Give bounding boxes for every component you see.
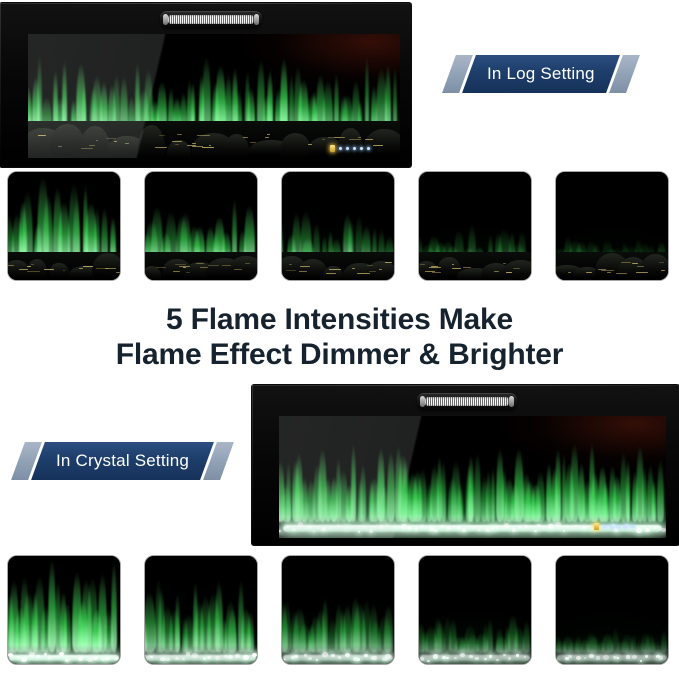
ember [463,267,471,268]
intensity-thumbnail [419,172,531,280]
glass-reflection [279,416,666,538]
crystal [645,655,648,658]
ember [357,273,369,274]
banner-label: In Crystal Setting [56,451,189,471]
thumbnail-log-bed [282,252,394,280]
log [49,263,69,277]
crystal-strip [557,655,667,661]
intensity-thumbnail [282,172,394,280]
intensity-thumbnail [145,556,257,664]
ember [637,266,644,267]
crystal [626,655,630,659]
vent-grille [168,15,254,23]
crystal [294,655,298,658]
crystal [603,655,609,660]
crystal [78,657,83,661]
ember [607,272,611,273]
banner-body: In Crystal Setting [31,442,214,480]
intensity-thumbnail [282,556,394,664]
crystal [93,656,98,660]
crystal [371,656,377,661]
ember [286,270,295,271]
flame [111,560,117,653]
fireplace-unit-log [0,3,411,167]
ember [452,268,461,269]
ember [661,270,665,271]
power-indicator-led [330,145,335,152]
thumbnail-log-bed [419,252,531,280]
ember [245,263,250,264]
crystal [203,657,206,660]
unit-left-highlight [0,3,1,167]
crystal [322,652,328,657]
ember [200,267,209,268]
headline-line-2: Flame Effect Dimmer & Brighter [0,338,679,373]
ember [19,269,28,270]
log [366,261,394,279]
crystal [596,656,600,660]
glass-reflection [28,34,400,158]
power-indicator-led [594,523,599,530]
thumbnail-log-bed [556,252,668,280]
unit-left-highlight [252,385,253,545]
log [640,254,668,278]
log [27,259,47,278]
ember [326,273,337,274]
headline-line-1: 5 Flame Intensities Make [0,303,679,338]
firebox-log [28,34,400,158]
intensity-led [353,147,356,150]
intensity-led [603,525,606,528]
intensity-led [624,525,627,528]
ember [329,269,341,270]
crystal [524,656,526,658]
thumbnail-crystal-bed [419,645,531,664]
ember [506,272,512,273]
ember [31,264,34,265]
intensity-thumbnail [145,172,257,280]
crystal [29,652,35,657]
crystal [175,657,179,660]
intensity-thumbnail [8,172,120,280]
log [502,260,531,280]
thumbnail-crystal-bed [282,645,394,664]
thumbnail-crystal-bed [556,645,668,664]
vent-handle [160,11,262,28]
ember [173,271,181,272]
crystal [331,654,335,657]
banner-body: In Log Setting [462,55,620,93]
log [145,266,161,279]
vent-cap-right [509,396,514,407]
fireplace-unit-crystal [252,385,679,545]
thumbnail-log-bed [8,252,120,280]
ember [300,266,310,267]
intensity-thumbnail [8,556,120,664]
ember [83,266,94,267]
crystal [21,657,27,662]
intensity-led [631,525,634,528]
ember [601,270,614,271]
ember [208,265,219,266]
ember [659,262,663,263]
crystal [150,656,153,658]
ember [299,271,307,272]
crystal [385,654,391,659]
crystal [484,658,486,660]
crystal [516,654,519,657]
crystal [659,656,663,659]
crystal [243,655,249,660]
crystal [235,654,240,658]
crystal [304,654,308,657]
ember [186,272,190,273]
intensity-thumbnail [419,556,531,664]
ember [432,272,441,273]
crystal [87,658,93,663]
ember [568,272,571,273]
ember [586,272,592,273]
crystal [427,660,430,662]
intensity-led [617,525,620,528]
crystal [446,657,449,659]
crystal [589,654,594,658]
ember [196,263,204,264]
banner-crystal-setting: In Crystal Setting [18,442,227,480]
intensity-led [339,147,342,150]
banner-label: In Log Setting [487,64,595,84]
crystal [160,657,166,661]
crystal [556,659,558,662]
vent-grille [425,397,509,405]
crystal [192,653,198,658]
crystal [576,656,581,660]
ember [503,263,506,264]
thumbnail-crystal-bed [8,645,120,664]
ember [352,268,355,269]
ember [179,266,190,267]
crystal [475,657,479,660]
control-panel-log[interactable] [330,145,370,152]
vent-cap-right [254,14,259,25]
ember [385,262,392,263]
firebox-crystal [279,416,666,538]
intensity-led [367,147,370,150]
crystal [496,659,498,661]
ember [156,267,167,268]
intensity-thumbnail [556,172,668,280]
ember [289,264,292,265]
crystal [252,653,257,657]
ember [79,268,83,269]
vent-handle [417,393,517,410]
ember [616,273,627,274]
intensity-led [346,147,349,150]
ember [8,265,14,266]
crystal [182,658,185,660]
intensity-thumbnail [556,556,668,664]
page-title: 5 Flame Intensities Make Flame Effect Di… [0,303,679,373]
log [92,253,120,278]
crystal [105,657,110,661]
thumbnail-log-bed [145,252,257,280]
ember [183,267,186,268]
crystal [568,655,572,658]
crystal [632,655,637,659]
ember [431,266,439,267]
intensity-led [360,147,363,150]
thumbnail-crystal-bed [145,645,257,664]
unit-top-highlight [252,385,679,386]
ember [234,269,243,270]
control-panel-crystal[interactable] [594,523,634,530]
banner-log-setting: In Log Setting [449,55,633,93]
crystal [617,657,619,659]
crystal [640,660,642,662]
ember [27,271,40,272]
ember [27,266,32,267]
ember [116,272,120,273]
intensity-led [610,525,613,528]
unit-top-highlight [0,3,411,4]
